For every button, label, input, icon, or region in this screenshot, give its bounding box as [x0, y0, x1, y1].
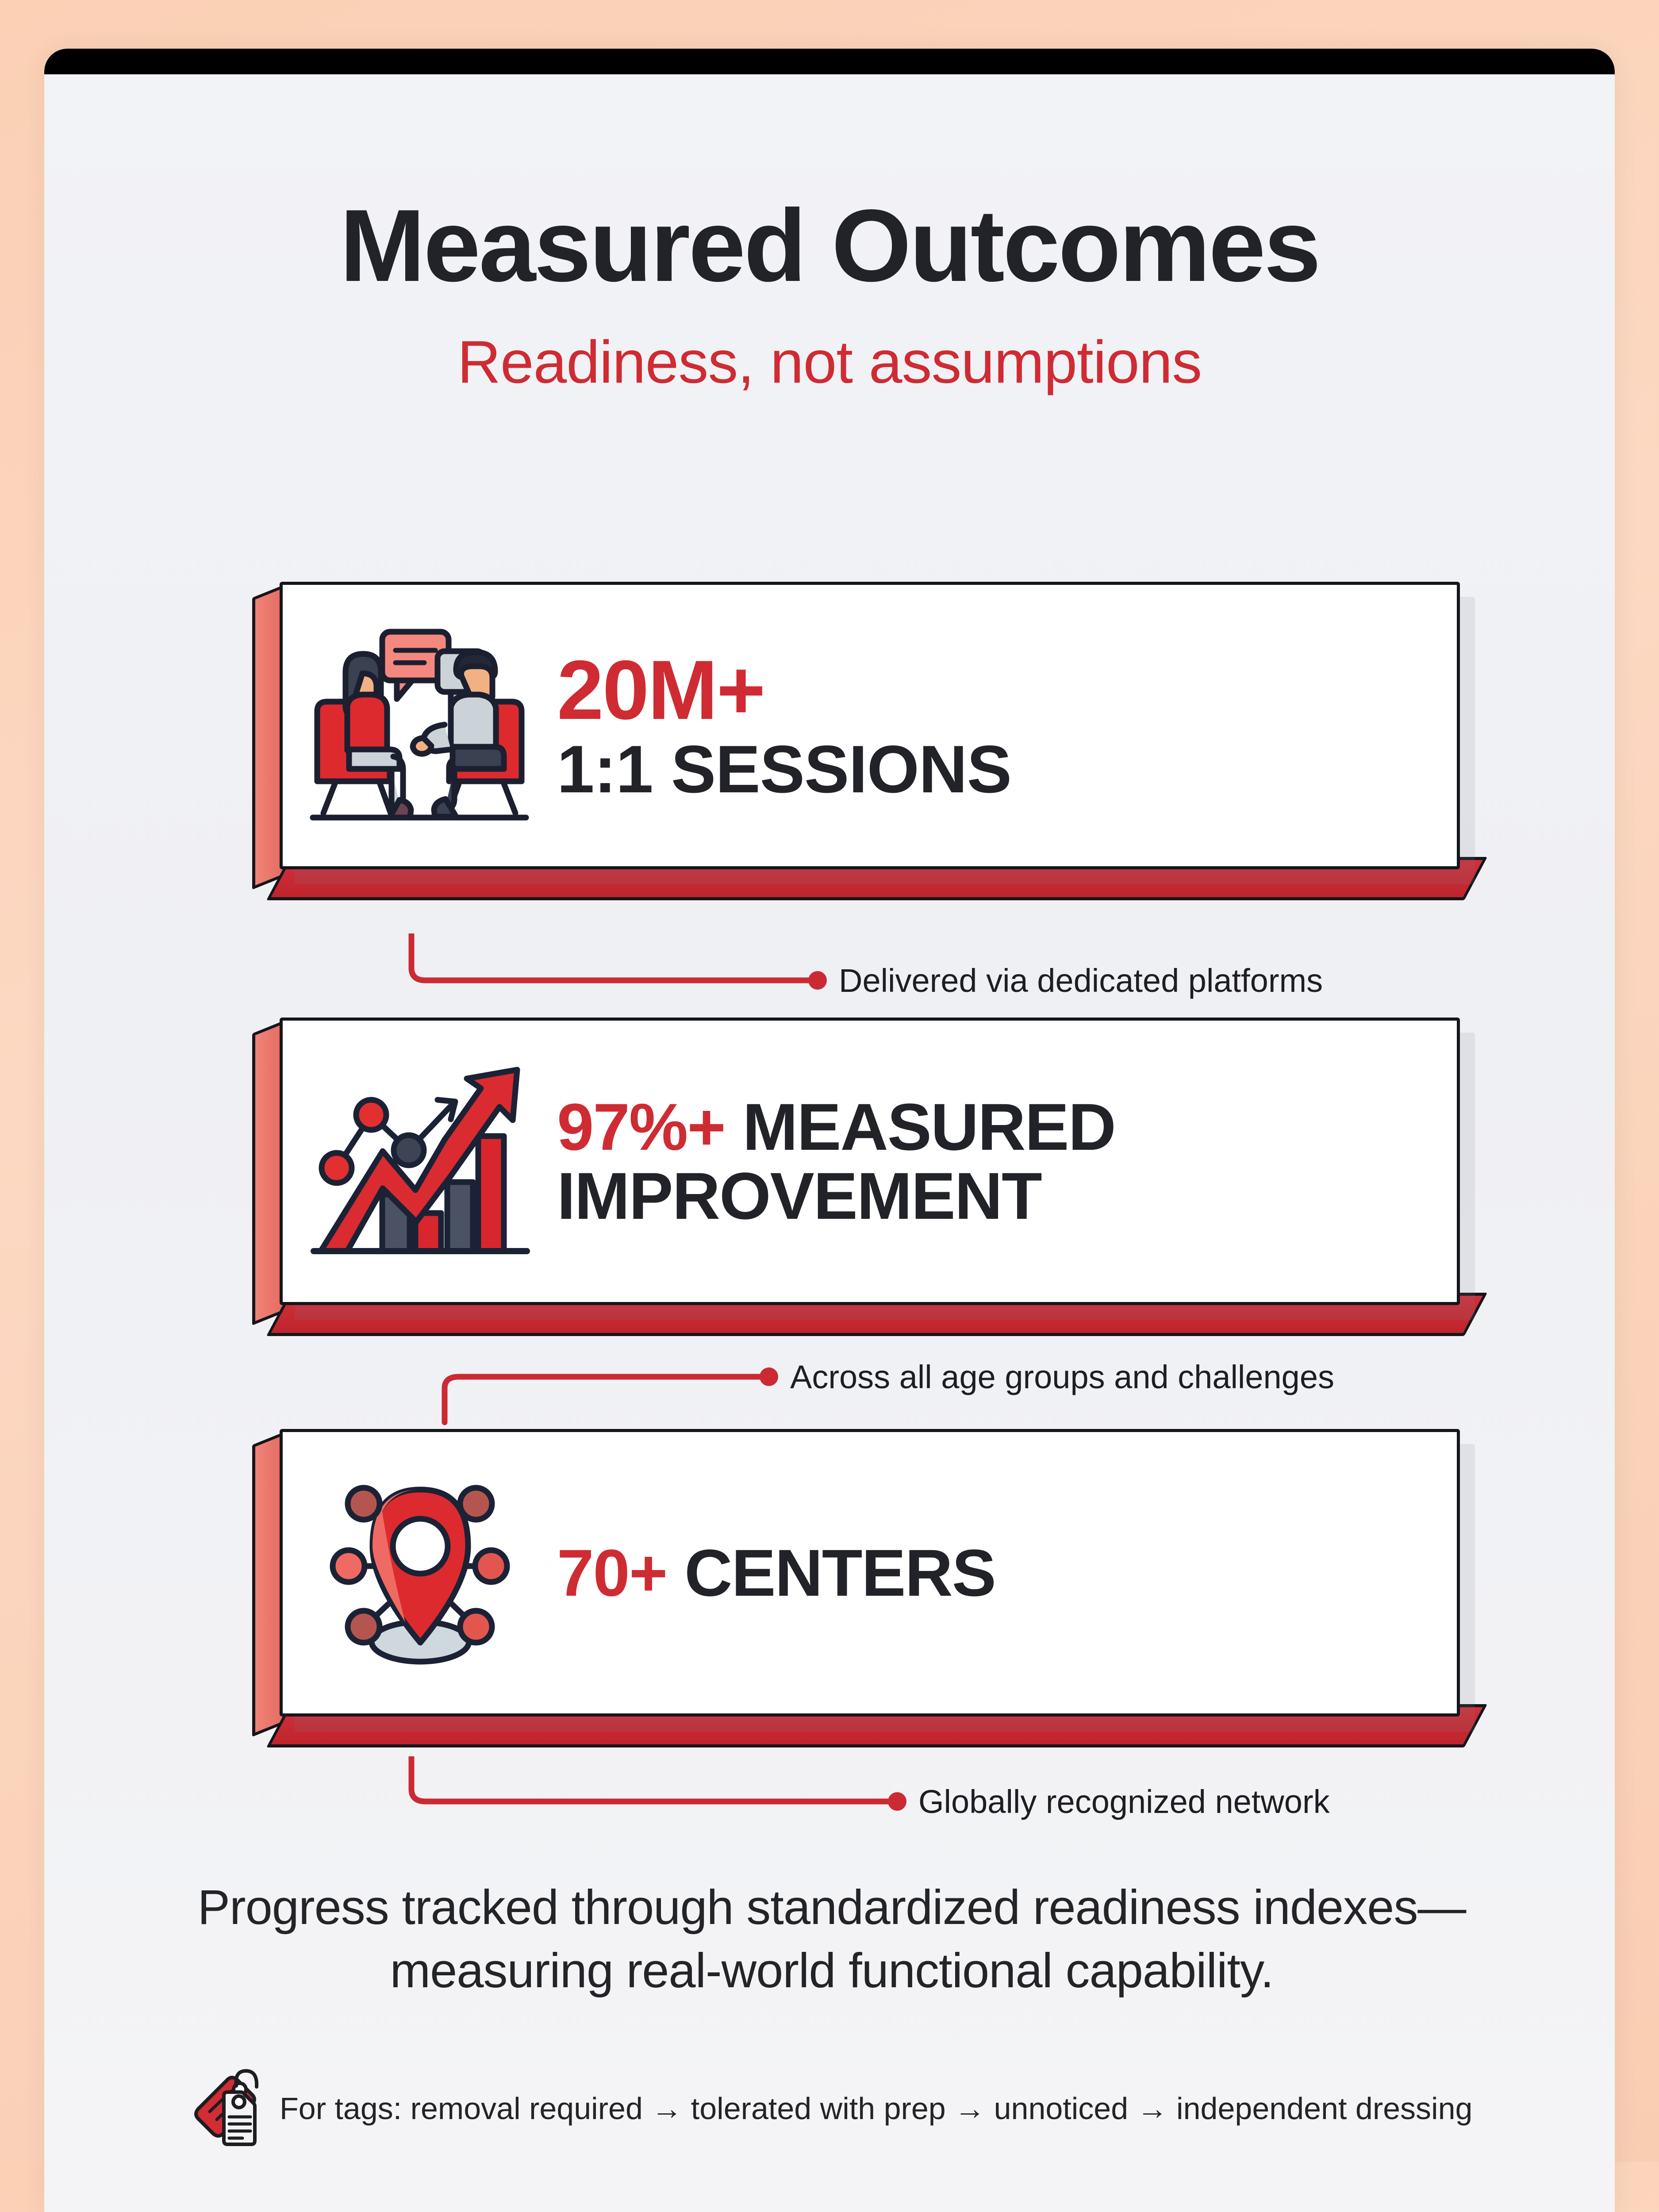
header: Measured Outcomes Readiness, not assumpt…: [44, 195, 1615, 392]
card-face: 20M+ 1:1 SESSIONS: [280, 582, 1460, 869]
card-face: 70+ CENTERS: [280, 1429, 1460, 1717]
summary-paragraph: Progress tracked through standardized re…: [133, 1876, 1531, 2002]
price-tags-icon: [190, 2068, 265, 2148]
stat-content: 70+ CENTERS: [557, 1538, 1457, 1607]
counseling-session-icon: [283, 585, 557, 866]
growth-chart-icon: [283, 1021, 557, 1302]
stat-label: 1:1 SESSIONS: [557, 734, 1430, 804]
connector-caption: Delivered via dedicated platforms: [839, 962, 1323, 999]
page-subtitle: Readiness, not assumptions: [44, 332, 1615, 392]
tag-note-row: For tags: removal required → tolerated w…: [190, 2068, 1571, 2148]
connector-2: Across all age groups and challenges: [44, 1345, 1615, 1433]
poster-card: Measured Outcomes Readiness, not assumpt…: [44, 49, 1615, 2212]
stat-card-improvement[interactable]: 97%+ MEASURED IMPROVEMENT: [252, 1018, 1460, 1336]
stat-content: 97%+ MEASURED IMPROVEMENT: [557, 1092, 1457, 1230]
card-face: 97%+ MEASURED IMPROVEMENT: [280, 1018, 1460, 1305]
tag-note-text: For tags: removal required → tolerated w…: [280, 2091, 1472, 2126]
stat-card-centers[interactable]: 70+ CENTERS: [252, 1429, 1460, 1747]
stat-content: 20M+ 1:1 SESSIONS: [557, 647, 1457, 804]
connector-caption: Across all age groups and challenges: [790, 1358, 1334, 1396]
stat-card-sessions[interactable]: 20M+ 1:1 SESSIONS: [252, 582, 1460, 900]
top-black-bar: [44, 49, 1615, 74]
stat-label: CENTERS: [684, 1536, 995, 1610]
connector-3: Globally recognized network: [44, 1756, 1615, 1845]
page-title: Measured Outcomes: [44, 195, 1615, 297]
connector-caption: Globally recognized network: [918, 1783, 1330, 1820]
location-network-icon: [283, 1432, 557, 1713]
connector-1: Delivered via dedicated platforms: [44, 933, 1615, 1022]
stat-number: 70+: [557, 1536, 667, 1610]
stat-number: 20M+: [557, 647, 1430, 734]
stat-number: 97%+: [557, 1090, 725, 1164]
